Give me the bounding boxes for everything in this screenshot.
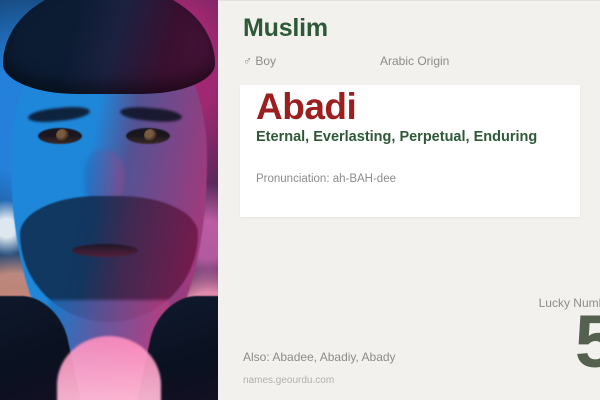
lucky-number-block: Lucky Number 5 xyxy=(406,296,600,373)
hair-shape xyxy=(3,0,215,94)
name-detail-card: Muslim ♂ Boy Arabic Origin Abadi Eternal… xyxy=(0,0,600,400)
lucky-number-value: 5 xyxy=(406,312,600,373)
name-panel: Abadi Eternal, Everlasting, Perpetual, E… xyxy=(240,85,580,217)
portrait-photo xyxy=(0,0,218,400)
name-title: Abadi xyxy=(256,86,356,128)
detail-content: Muslim ♂ Boy Arabic Origin Abadi Eternal… xyxy=(218,0,600,400)
pronunciation-line: Pronunciation: ah-BAH-dee xyxy=(256,173,396,185)
iris-left xyxy=(56,129,69,142)
gender-label: ♂ Boy xyxy=(243,54,276,68)
lucky-number-label: Lucky Number xyxy=(406,296,600,310)
alternate-spellings: Also: Abadee, Abadiy, Abady xyxy=(243,350,396,364)
male-icon: ♂ xyxy=(243,54,252,68)
site-watermark: names.geourdu.com xyxy=(243,375,334,386)
religion-heading: Muslim xyxy=(243,14,328,43)
lips-shape xyxy=(72,244,138,257)
gender-text: Boy xyxy=(255,54,276,68)
iris-right xyxy=(144,129,157,142)
origin-label: Arabic Origin xyxy=(380,54,449,68)
name-meanings: Eternal, Everlasting, Perpetual, Endurin… xyxy=(256,128,562,147)
